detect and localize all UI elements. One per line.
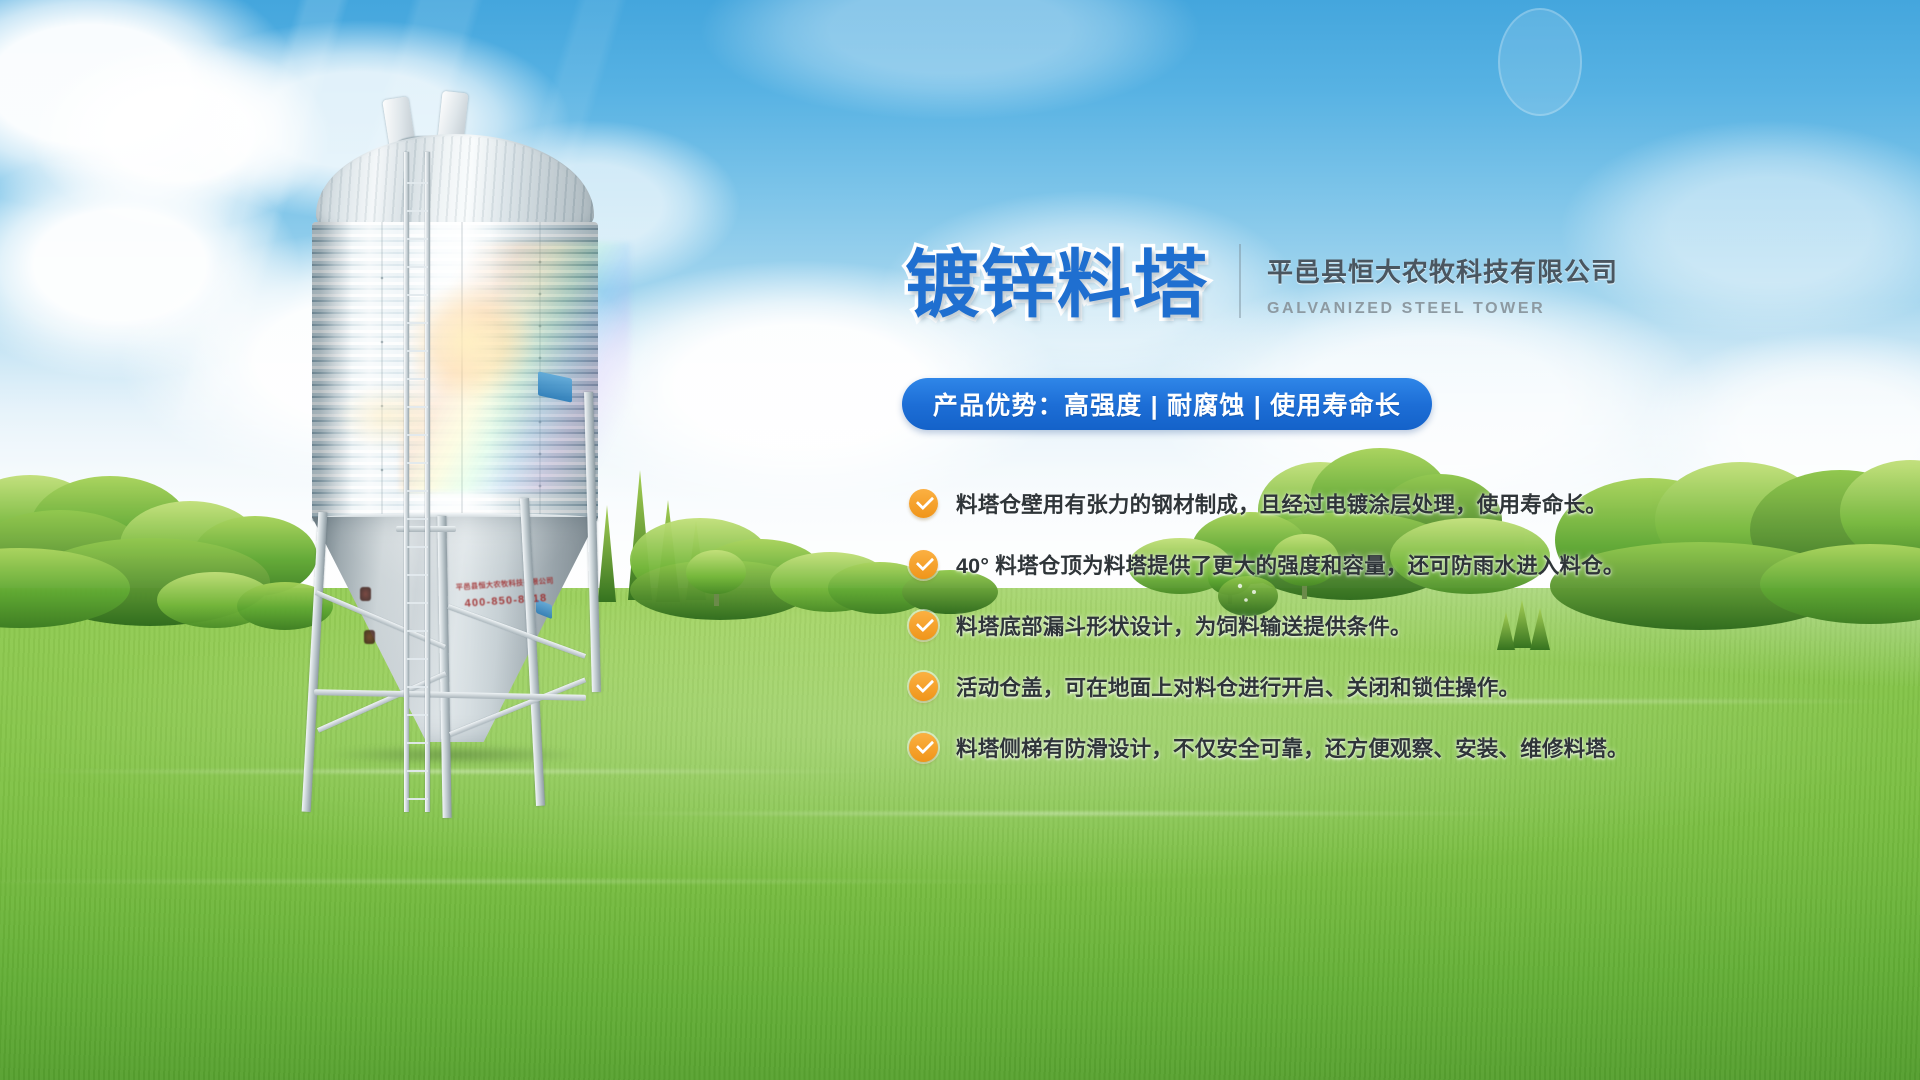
title-row: 镀锌料塔 平邑县恒大农牧科技有限公司 GALVANIZED STEEL TOWE… <box>905 244 1618 322</box>
silo-cone-valve-2 <box>364 630 375 644</box>
vertical-divider <box>1239 244 1241 318</box>
feature-text: 料塔底部漏斗形状设计，为饲料输送提供条件。 <box>956 610 1412 641</box>
galvanized-silo-image: 平邑县恒大农牧科技有限公司 400-850-8818 <box>300 92 610 752</box>
list-item: 料塔仓壁用有张力的钢材制成，且经过电镀涂层处理，使用寿命长。 <box>909 482 1909 525</box>
list-item: 料塔底部漏斗形状设计，为饲料输送提供条件。 <box>909 604 1909 647</box>
ladder-rail-right <box>425 152 430 812</box>
feature-text: 活动仓盖，可在地面上对料仓进行开启、关闭和锁住操作。 <box>956 671 1520 702</box>
feature-text: 40° 料塔仓顶为料塔提供了更大的强度和容量，还可防雨水进入料仓。 <box>956 549 1625 580</box>
silo-leg-4 <box>584 392 601 692</box>
company-block: 平邑县恒大农牧科技有限公司 GALVANIZED STEEL TOWER <box>1267 252 1618 322</box>
silo-cone-valve-1 <box>360 587 371 601</box>
company-name: 平邑县恒大农牧科技有限公司 <box>1267 252 1618 289</box>
feature-text: 料塔侧梯有防滑设计，不仅安全可靠，还方便观察、安装、维修料塔。 <box>956 732 1629 763</box>
silo-cone-shading <box>312 517 598 742</box>
banner-stage: 平邑县恒大农牧科技有限公司 400-850-8818 <box>0 0 1920 1080</box>
silo-roof-ridges <box>316 136 594 236</box>
banner-content: 镀锌料塔 平邑县恒大农牧科技有限公司 GALVANIZED STEEL TOWE… <box>905 0 1920 1080</box>
page-title: 镀锌料塔 <box>905 248 1209 322</box>
check-circle-icon <box>909 489 938 518</box>
silo-side-ladder <box>404 152 430 812</box>
advantage-pill: 产品优势：高强度 | 耐腐蚀 | 使用寿命长 <box>902 378 1432 430</box>
feature-list: 料塔仓壁用有张力的钢材制成，且经过电镀涂层处理，使用寿命长。 40° 料塔仓顶为… <box>909 482 1909 787</box>
list-item: 活动仓盖，可在地面上对料仓进行开启、关闭和锁住操作。 <box>909 665 1909 708</box>
ladder-rail-left <box>404 152 409 812</box>
check-circle-icon <box>909 672 938 701</box>
check-circle-icon <box>909 611 938 640</box>
company-subtitle-en: GALVANIZED STEEL TOWER <box>1267 300 1618 318</box>
feature-text: 料塔仓壁用有张力的钢材制成，且经过电镀涂层处理，使用寿命长。 <box>956 488 1607 519</box>
check-circle-icon <box>909 733 938 762</box>
silo-bolt-seams <box>312 222 598 522</box>
list-item: 40° 料塔仓顶为料塔提供了更大的强度和容量，还可防雨水进入料仓。 <box>909 543 1909 586</box>
advantage-pill-label: 产品优势：高强度 | 耐腐蚀 | 使用寿命长 <box>933 386 1401 422</box>
list-item: 料塔侧梯有防滑设计，不仅安全可靠，还方便观察、安装、维修料塔。 <box>909 726 1909 769</box>
silo-brand-decal: 平邑县恒大农牧科技有限公司 400-850-8818 <box>449 574 564 628</box>
check-circle-icon <box>909 550 938 579</box>
